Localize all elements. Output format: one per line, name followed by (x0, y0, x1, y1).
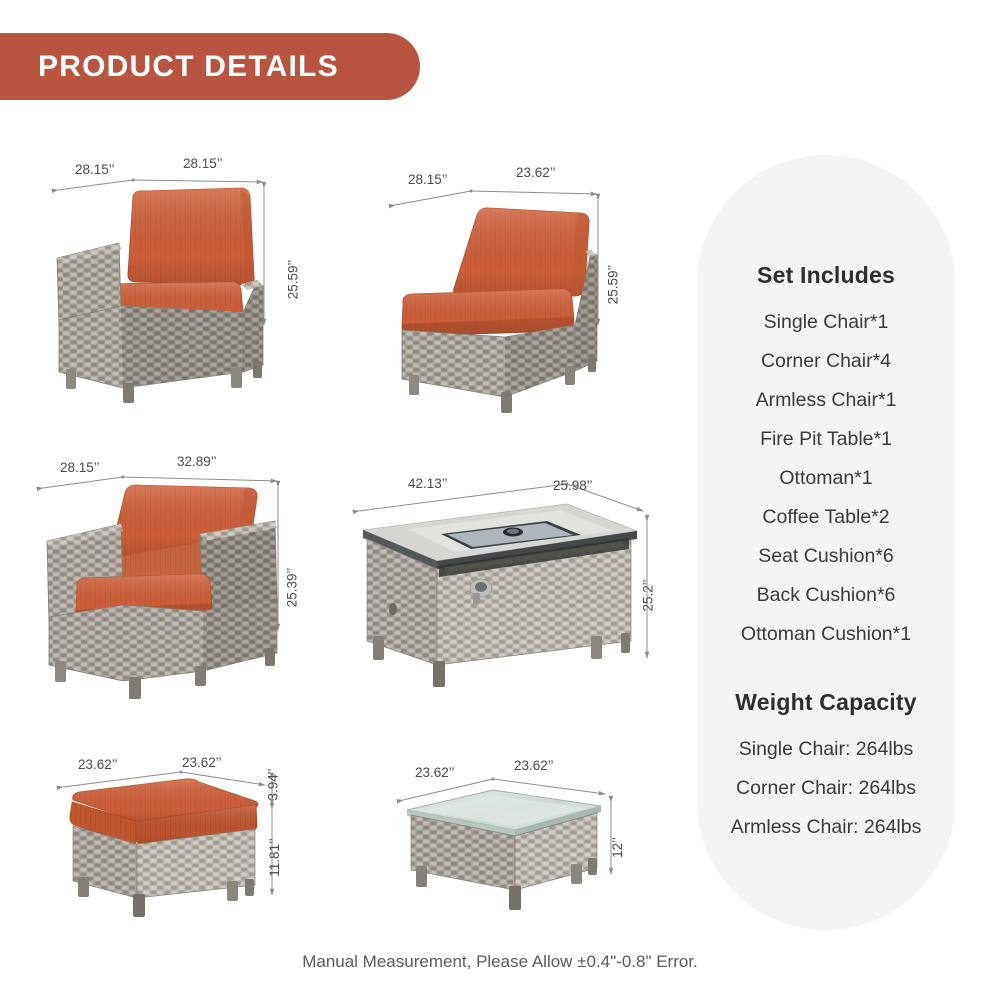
coffee-table-dim-height: 12’’ (610, 837, 625, 858)
armless-chair-dim-right: 23.62’’ (516, 165, 556, 180)
set-includes-item: Coffee Table*2 (762, 506, 889, 529)
set-includes-item: Corner Chair*4 (761, 350, 891, 373)
fire-pit-dim-height: 25.2’’ (641, 579, 656, 611)
weight-capacity-item: Single Chair: 264lbs (739, 738, 914, 761)
product-ottoman: 23.62’’ 23.62’’ 3.94’’ 11.81’’ (45, 755, 325, 930)
weight-capacity-title: Weight Capacity (735, 689, 917, 716)
set-includes-title: Set Includes (757, 262, 895, 289)
corner-chair-dim-height: 25.59’’ (285, 260, 300, 300)
set-includes-item: Ottoman*1 (779, 467, 872, 490)
single-chair-dim-height: 25.39’’ (284, 568, 299, 608)
single-chair-dim-left: 28.15’’ (60, 460, 100, 475)
corner-chair-dim-right: 28.15’’ (183, 156, 223, 171)
product-single-chair: 28.15’’ 32.89’’ 25.39’’ (25, 455, 345, 705)
weight-capacity-item: Corner Chair: 264lbs (736, 777, 916, 800)
product-details-banner: PRODUCT DETAILS (0, 33, 420, 100)
info-panel: Set Includes Single Chair*1 Corner Chair… (697, 155, 955, 930)
ottoman-dim-cushion-height: 3.94’’ (266, 768, 281, 800)
product-details-infographic: PRODUCT DETAILS (0, 0, 1000, 1000)
set-includes-item: Ottoman Cushion*1 (741, 623, 911, 646)
coffee-table-dim-left: 23.62’’ (415, 765, 455, 780)
product-corner-chair: 28.15’’ 28.15’’ 25.59’’ (35, 160, 335, 420)
set-includes-item: Fire Pit Table*1 (760, 428, 892, 451)
ottoman-dim-left: 23.62’’ (78, 757, 118, 772)
product-coffee-table: 23.62’’ 23.62’’ 12’’ (395, 758, 660, 930)
product-fire-pit-table: 42.13’’ 25.98’’ 25.2’’ (345, 473, 685, 708)
set-includes-item: Back Cushion*6 (757, 584, 896, 607)
fire-pit-table-illustration (345, 473, 685, 708)
fire-pit-dim-right: 25.98’’ (553, 478, 593, 493)
measurement-note: Manual Measurement, Please Allow ±0.4"-0… (0, 952, 1000, 972)
set-includes-item: Armless Chair*1 (756, 389, 897, 412)
single-chair-dim-right: 32.89’’ (177, 454, 217, 469)
ottoman-dim-right: 23.62’’ (182, 755, 222, 770)
corner-chair-dim-left: 28.15’’ (75, 162, 115, 177)
page-title: PRODUCT DETAILS (38, 50, 339, 84)
fire-pit-dim-left: 42.13’’ (408, 476, 448, 491)
set-includes-item: Single Chair*1 (764, 311, 889, 334)
product-armless-chair: 28.15’’ 23.62’’ 25.59’’ (385, 165, 655, 420)
armless-chair-dim-left: 28.15’’ (408, 172, 448, 187)
coffee-table-dim-right: 23.62’’ (514, 758, 554, 773)
weight-capacity-item: Armless Chair: 264lbs (731, 816, 922, 839)
ottoman-dim-height: 11.81’’ (267, 838, 282, 877)
set-includes-item: Seat Cushion*6 (758, 545, 894, 568)
ottoman-illustration (45, 755, 325, 930)
armless-chair-dim-height: 25.59’’ (605, 265, 620, 305)
